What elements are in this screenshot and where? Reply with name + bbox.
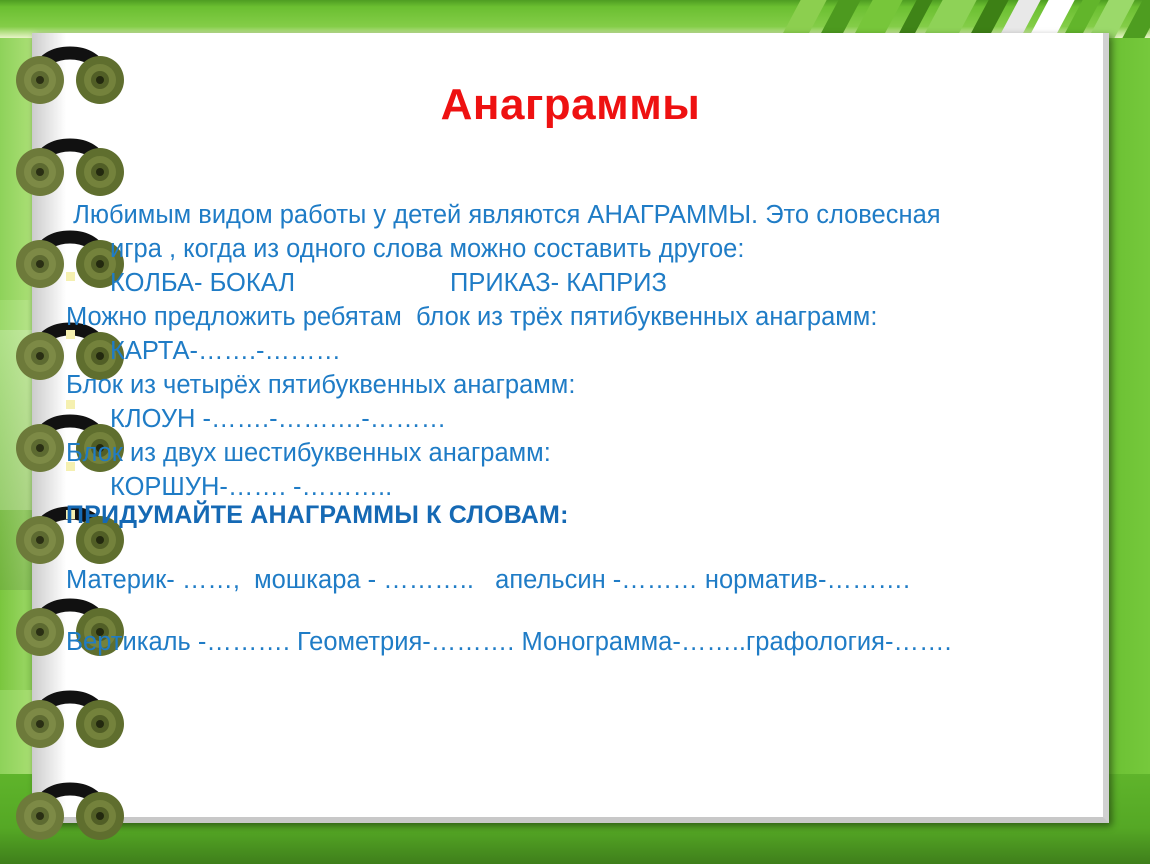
task-words-line-2: Вертикаль -………. Геометрия-………. Монограмм… xyxy=(66,628,952,657)
intro-line-1: Любимым видом работы у детей являются АН… xyxy=(66,198,1076,232)
slide-canvas: Анаграммы Любимым видом работы у детей я… xyxy=(0,0,1150,864)
page-title: Анаграммы xyxy=(32,80,1109,130)
spiral-ring-icon xyxy=(14,684,126,754)
prompt-two-six-letter-block: Блок из двух шестибуквенных анаграмм: xyxy=(66,436,1076,470)
example-pair-row: КОЛБА- БОКАЛПРИКАЗ- КАПРИЗ xyxy=(66,266,1076,300)
lesson-body: Любимым видом работы у детей являются АН… xyxy=(66,198,1076,504)
example-prikaz-kapriz: ПРИКАЗ- КАПРИЗ xyxy=(450,269,667,297)
prompt-three-letter-block: Можно предложить ребятам блок из трёх пя… xyxy=(66,300,1076,334)
answer-karta: КАРТА-…….-……… xyxy=(66,334,1076,368)
example-kolba-bokal: КОЛБА- БОКАЛ xyxy=(110,266,450,300)
task-words-line-1: Материк- ……, мошкара - ……….. апельсин -…… xyxy=(66,566,910,595)
spiral-ring-icon xyxy=(14,776,126,846)
answer-kloun: КЛОУН -…….-……….-……… xyxy=(66,402,1076,436)
spiral-ring-icon xyxy=(14,132,126,202)
answer-korshun: КОРШУН-……. -……….. xyxy=(66,470,1076,504)
task-heading: ПРИДУМАЙТЕ АНАГРАММЫ К СЛОВАМ: xyxy=(66,501,569,530)
intro-line-2: игра , когда из одного слова можно соста… xyxy=(66,232,1076,266)
prompt-four-letter-block: Блок из четырёх пятибуквенных анаграмм: xyxy=(66,368,1076,402)
